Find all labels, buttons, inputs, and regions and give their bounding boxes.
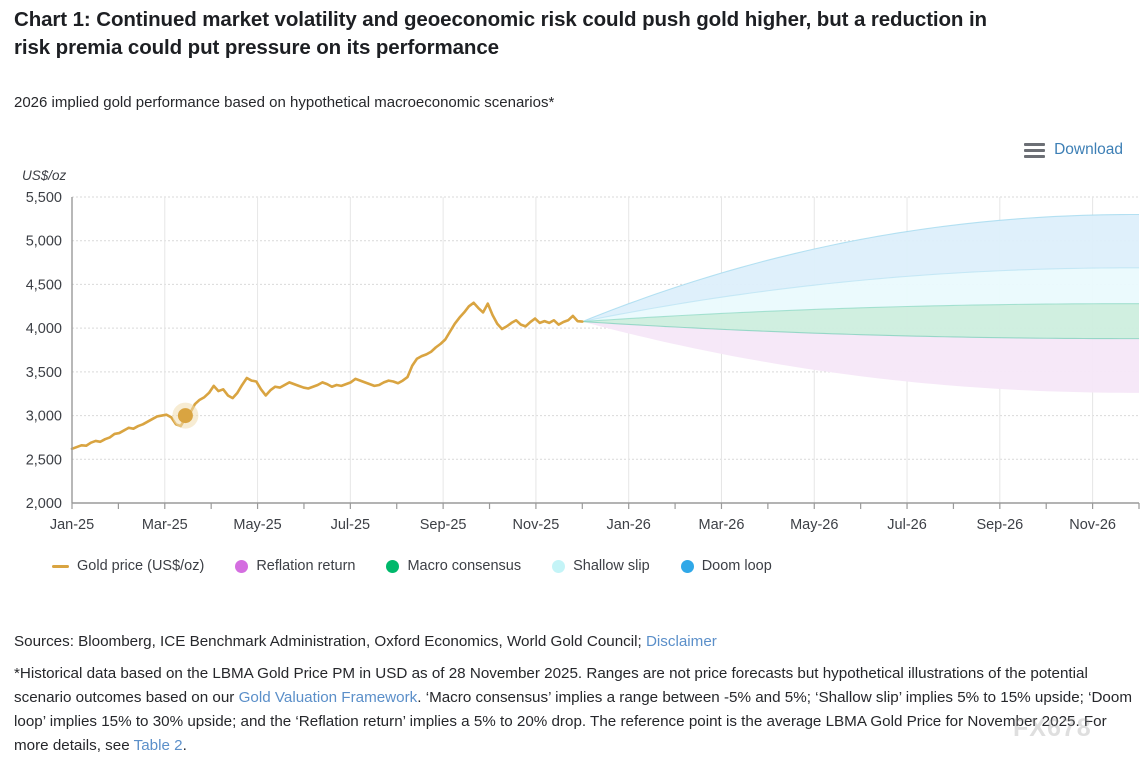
- legend-line-swatch: [52, 565, 69, 568]
- legend-item-doom-loop[interactable]: Doom loop: [681, 558, 772, 574]
- legend-item-reflation-return[interactable]: Reflation return: [235, 558, 355, 574]
- y-axis-tick-label: 3,500: [26, 365, 62, 381]
- legend-item-macro-consensus[interactable]: Macro consensus: [386, 558, 521, 574]
- x-axis-tick-label: Jan-26: [607, 517, 651, 533]
- legend-item-gold-price-us-oz[interactable]: Gold price (US$/oz): [52, 558, 204, 574]
- y-axis-tick-label: 3,000: [26, 409, 62, 425]
- legend-label: Reflation return: [256, 558, 355, 574]
- legend-dot-swatch: [552, 560, 565, 573]
- legend-dot-swatch: [386, 560, 399, 573]
- chart-notes: Sources: Bloomberg, ICE Benchmark Admini…: [14, 630, 1134, 766]
- chart-page: Chart 1: Continued market volatility and…: [0, 0, 1145, 765]
- y-axis-tick-label: 4,000: [26, 321, 62, 337]
- y-axis-tick-label: 5,000: [26, 234, 62, 250]
- gold-valuation-framework-link[interactable]: Gold Valuation Framework: [239, 689, 418, 706]
- legend-label: Macro consensus: [407, 558, 521, 574]
- legend-dot-swatch: [681, 560, 694, 573]
- x-axis-tick-label: May-25: [233, 517, 281, 533]
- x-axis-tick-label: May-26: [790, 517, 838, 533]
- x-axis-tick-label: Jul-25: [331, 517, 371, 533]
- disclaimer-link[interactable]: Disclaimer: [646, 633, 717, 650]
- x-axis-tick-label: Sep-25: [420, 517, 467, 533]
- legend-label: Gold price (US$/oz): [77, 558, 204, 574]
- reference-marker-dot[interactable]: [178, 408, 193, 423]
- x-axis-tick-label: Mar-25: [142, 517, 188, 533]
- x-axis-tick-label: Mar-26: [699, 517, 745, 533]
- sources-text: Sources: Bloomberg, ICE Benchmark Admini…: [14, 633, 646, 650]
- legend-dot-swatch: [235, 560, 248, 573]
- download-button[interactable]: Download: [1024, 141, 1123, 159]
- footnote-line: *Historical data based on the LBMA Gold …: [14, 662, 1134, 758]
- table-2-link[interactable]: Table 2: [134, 737, 183, 754]
- chart-subtitle: 2026 implied gold performance based on h…: [14, 94, 1014, 111]
- y-axis-tick-label: 4,500: [26, 277, 62, 293]
- y-axis-tick-label: 2,000: [26, 496, 62, 512]
- x-axis-tick-label: Nov-26: [1069, 517, 1116, 533]
- chart-plot-area: 2,0002,5003,0003,5004,0004,5005,0005,500…: [0, 160, 1145, 600]
- x-axis-tick-label: Sep-26: [976, 517, 1023, 533]
- y-axis-tick-label: 2,500: [26, 452, 62, 468]
- legend-label: Doom loop: [702, 558, 772, 574]
- y-axis-title: US$/oz: [22, 168, 67, 183]
- download-label: Download: [1054, 141, 1123, 159]
- page-title: Chart 1: Continued market volatility and…: [14, 6, 1014, 63]
- x-axis-tick-label: Jan-25: [50, 517, 94, 533]
- hamburger-menu-icon: [1024, 143, 1045, 158]
- x-axis-tick-label: Jul-26: [887, 517, 927, 533]
- y-axis-tick-label: 5,500: [26, 190, 62, 206]
- chart-legend: Gold price (US$/oz)Reflation returnMacro…: [52, 558, 803, 574]
- sources-line: Sources: Bloomberg, ICE Benchmark Admini…: [14, 630, 1134, 654]
- scenario-fan-chart: 2,0002,5003,0003,5004,0004,5005,0005,500…: [0, 160, 1145, 600]
- gold-price-line: [72, 303, 582, 449]
- legend-item-shallow-slip[interactable]: Shallow slip: [552, 558, 650, 574]
- footnote-end: .: [183, 737, 187, 754]
- legend-label: Shallow slip: [573, 558, 650, 574]
- x-axis-tick-label: Nov-25: [513, 517, 560, 533]
